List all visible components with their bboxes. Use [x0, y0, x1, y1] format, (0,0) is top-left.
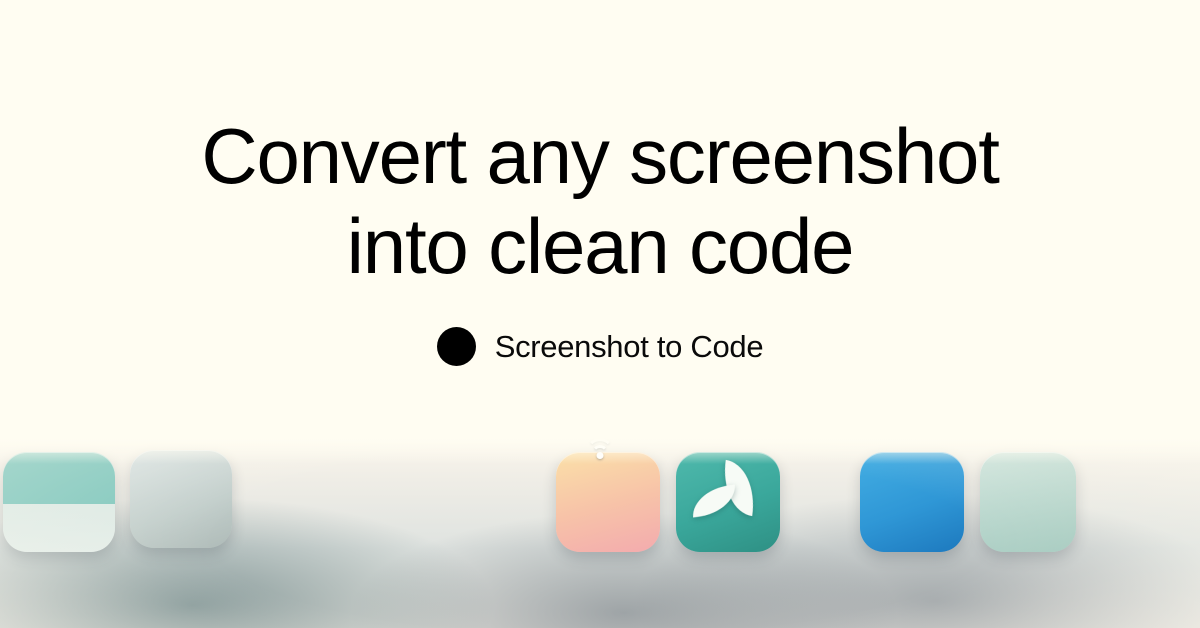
hero-section: Convert any screenshot into clean code S… — [0, 0, 1200, 440]
mint-card-tile — [980, 452, 1076, 552]
og-share-card: Convert any screenshot into clean code S… — [0, 0, 1200, 628]
filled-circle-icon — [437, 327, 476, 366]
location-tile — [556, 452, 660, 552]
strip-top-fade — [0, 438, 1200, 464]
brand-name: Screenshot to Code — [495, 329, 764, 365]
page-title: Convert any screenshot into clean code — [201, 112, 998, 291]
twitter-tile — [860, 452, 964, 552]
decorative-icon-strip — [0, 438, 1200, 628]
brand-row: Screenshot to Code — [437, 327, 764, 366]
camera-tile — [130, 450, 232, 548]
teal-app-tile — [3, 452, 115, 552]
